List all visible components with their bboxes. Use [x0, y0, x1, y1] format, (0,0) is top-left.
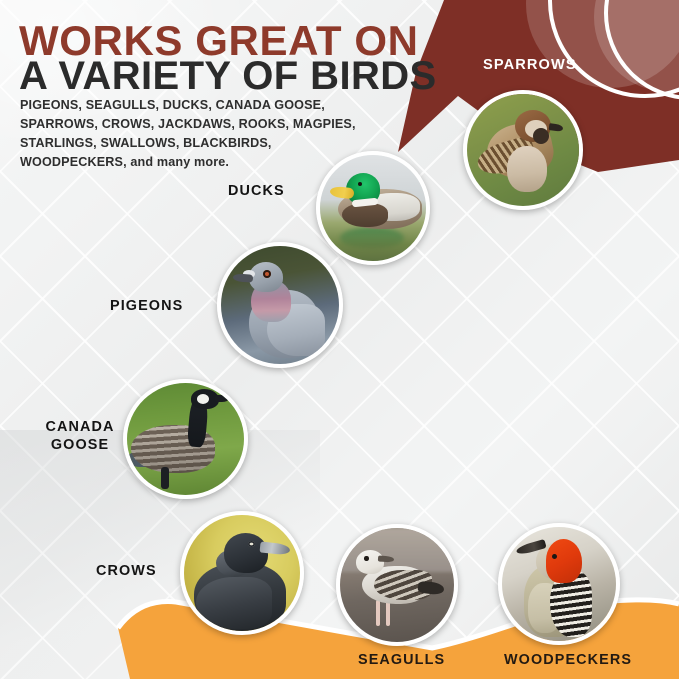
label-canada-goose: CANADA GOOSE — [25, 418, 135, 454]
bird-photo-seagull[interactable] — [336, 524, 458, 646]
label-crows: CROWS — [96, 562, 157, 580]
headline-line-2: A VARIETY OF BIRDS — [19, 56, 437, 97]
bird-deterrent-product-poster: WORKS GREAT ON A VARIETY OF BIRDS PIGEON… — [0, 0, 679, 679]
bird-species-list-text: PIGEONS, SEAGULLS, DUCKS, CANADA GOOSE, … — [20, 96, 360, 173]
label-pigeons: PIGEONS — [110, 297, 183, 315]
bird-photo-crow[interactable] — [180, 511, 304, 635]
bird-photo-woodpecker[interactable] — [498, 523, 620, 645]
label-seagulls: SEAGULLS — [358, 651, 445, 669]
label-sparrows: SPARROWS — [483, 56, 577, 74]
bird-photo-sparrow[interactable] — [463, 90, 583, 210]
label-ducks: DUCKS — [228, 182, 285, 200]
bird-photo-canada-goose[interactable] — [123, 379, 248, 499]
label-woodpeckers: WOODPECKERS — [504, 651, 632, 669]
bird-photo-pigeon[interactable] — [217, 242, 343, 368]
